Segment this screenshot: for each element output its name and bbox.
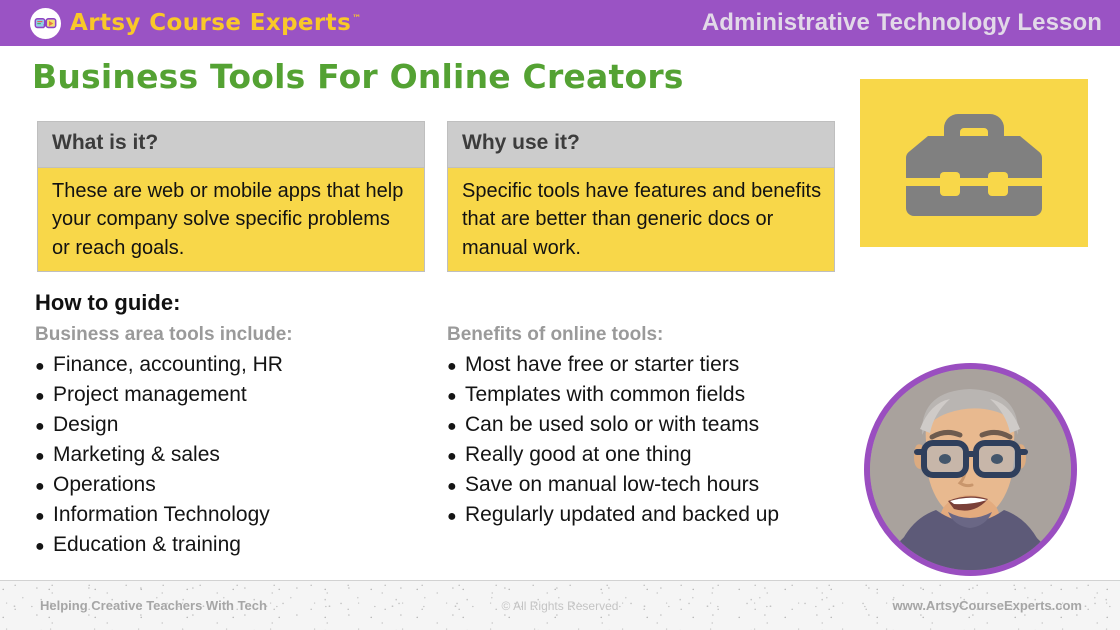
toolbox-icon bbox=[900, 102, 1048, 225]
list-item-label: Project management bbox=[53, 384, 247, 405]
list-item-label: Can be used solo or with teams bbox=[465, 414, 759, 435]
definition-box-what: What is it? These are web or mobile apps… bbox=[37, 121, 425, 272]
list-item-label: Finance, accounting, HR bbox=[53, 354, 283, 375]
footer-website[interactable]: www.ArtsyCourseExperts.com bbox=[892, 598, 1082, 613]
bullet-icon: ● bbox=[35, 539, 53, 555]
trademark-mark: ™ bbox=[352, 14, 361, 24]
list-item-label: Most have free or starter tiers bbox=[465, 354, 739, 375]
glasses-logo-icon bbox=[30, 8, 61, 39]
bullet-icon: ● bbox=[35, 359, 53, 375]
list-item-label: Templates with common fields bbox=[465, 384, 745, 405]
brand-name: Artsy Course Experts™ bbox=[70, 10, 362, 36]
list-item: ●Marketing & sales bbox=[35, 444, 435, 474]
toolbox-tile bbox=[860, 79, 1088, 247]
list-item-label: Marketing & sales bbox=[53, 444, 220, 465]
definition-box-why-body: Specific tools have features and benefit… bbox=[448, 168, 834, 271]
list-item: ●Education & training bbox=[35, 534, 435, 564]
list-item-label: Really good at one thing bbox=[465, 444, 692, 465]
bullet-icon: ● bbox=[447, 359, 465, 375]
bullet-icon: ● bbox=[447, 479, 465, 495]
how-to-guide-label: How to guide: bbox=[35, 290, 180, 316]
bullet-icon: ● bbox=[35, 509, 53, 525]
footer-copyright: © All Rights Reserved bbox=[502, 599, 619, 613]
list-item-label: Regularly updated and backed up bbox=[465, 504, 779, 525]
list-item-label: Education & training bbox=[53, 534, 241, 555]
bullet-icon: ● bbox=[447, 389, 465, 405]
footer-tagline: Helping Creative Teachers With Tech bbox=[40, 598, 267, 613]
lesson-title: Administrative Technology Lesson bbox=[702, 9, 1102, 37]
avatar bbox=[864, 363, 1077, 576]
slide-footer: Helping Creative Teachers With Tech © Al… bbox=[0, 580, 1120, 630]
definition-box-what-body: These are web or mobile apps that help y… bbox=[38, 168, 424, 271]
list-item: ●Most have free or starter tiers bbox=[447, 354, 857, 384]
brand-name-text: Artsy Course Experts bbox=[70, 10, 351, 36]
list-item-label: Operations bbox=[53, 474, 156, 495]
slide-canvas: Artsy Course Experts™ Administrative Tec… bbox=[0, 0, 1120, 630]
definition-box-what-heading: What is it? bbox=[38, 122, 424, 168]
definition-box-why-heading: Why use it? bbox=[448, 122, 834, 168]
list-item: ●Regularly updated and backed up bbox=[447, 504, 857, 534]
list-item: ●Really good at one thing bbox=[447, 444, 857, 474]
bullet-icon: ● bbox=[35, 479, 53, 495]
list-item: ●Can be used solo or with teams bbox=[447, 414, 857, 444]
left-bullet-list: ●Finance, accounting, HR ●Project manage… bbox=[35, 354, 435, 564]
list-item: ●Operations bbox=[35, 474, 435, 504]
list-item-label: Design bbox=[53, 414, 118, 435]
right-column-heading: Benefits of online tools: bbox=[447, 324, 663, 346]
list-item-label: Save on manual low-tech hours bbox=[465, 474, 759, 495]
bullet-icon: ● bbox=[35, 389, 53, 405]
bullet-icon: ● bbox=[35, 419, 53, 435]
slide-header: Artsy Course Experts™ Administrative Tec… bbox=[0, 0, 1120, 46]
bullet-icon: ● bbox=[447, 419, 465, 435]
left-column-heading: Business area tools include: bbox=[35, 324, 293, 346]
definition-box-why: Why use it? Specific tools have features… bbox=[447, 121, 835, 272]
list-item: ●Finance, accounting, HR bbox=[35, 354, 435, 384]
brand: Artsy Course Experts™ bbox=[30, 8, 362, 39]
right-bullet-list: ●Most have free or starter tiers ●Templa… bbox=[447, 354, 857, 534]
list-item: ●Design bbox=[35, 414, 435, 444]
bullet-icon: ● bbox=[447, 449, 465, 465]
list-item: ●Project management bbox=[35, 384, 435, 414]
list-item: ●Templates with common fields bbox=[447, 384, 857, 414]
list-item: ●Information Technology bbox=[35, 504, 435, 534]
page-title: Business Tools For Online Creators bbox=[32, 57, 684, 96]
bullet-icon: ● bbox=[35, 449, 53, 465]
list-item: ●Save on manual low-tech hours bbox=[447, 474, 857, 504]
list-item-label: Information Technology bbox=[53, 504, 270, 525]
bullet-icon: ● bbox=[447, 509, 465, 525]
